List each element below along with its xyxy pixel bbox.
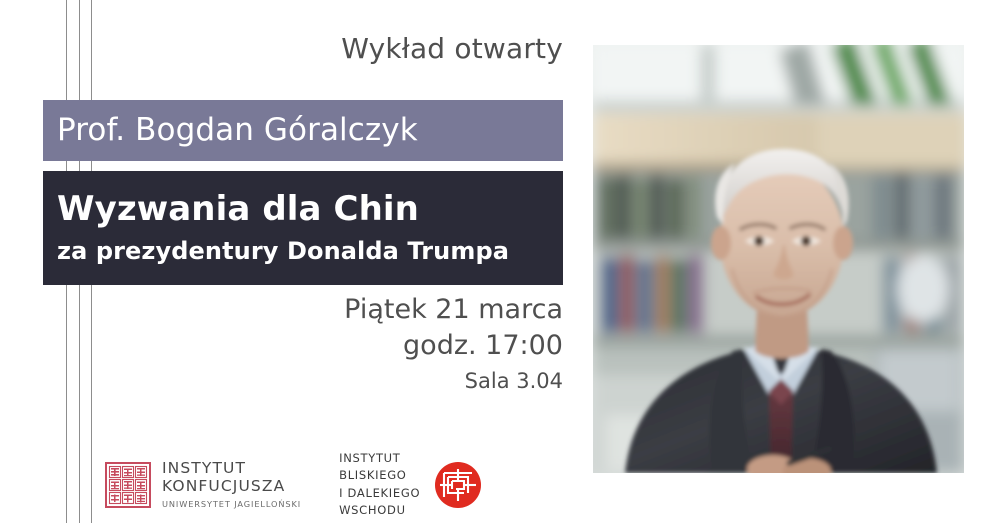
event-time: godz. 17:00 [43, 328, 563, 364]
chinese-seal-icon [105, 462, 151, 508]
confucius-institute-text: INSTYTUT KONFUCJUSZA UNIWERSYTET JAGIELL… [162, 460, 301, 509]
ibidw-line-3: I DALEKIEGO [339, 485, 420, 502]
ibidw-text: INSTYTUT BLISKIEGO I DALEKIEGO WSCHODU [339, 450, 420, 519]
ibidw-line-1: INSTYTUT [339, 450, 420, 467]
ibidw-line-2: BLISKIEGO [339, 467, 420, 484]
ci-line-3: UNIWERSYTET JAGIELLOŃSKI [162, 499, 301, 509]
speaker-portrait [593, 45, 964, 473]
event-date: Piątek 21 marca [43, 292, 563, 328]
speaker-bar: Prof. Bogdan Góralczyk [43, 100, 563, 161]
event-details: Piątek 21 marca godz. 17:00 Sala 3.04 [43, 292, 563, 397]
institute-far-east-logo: INSTYTUT BLISKIEGO I DALEKIEGO WSCHODU [339, 450, 482, 519]
event-room: Sala 3.04 [43, 366, 563, 396]
red-circular-maze-icon [434, 461, 482, 509]
logo-strip: INSTYTUT KONFUCJUSZA UNIWERSYTET JAGIELL… [105, 450, 482, 519]
ci-line-1: INSTYTUT [162, 460, 301, 478]
event-poster: Wykład otwarty Prof. Bogdan Góralczyk Wy… [0, 0, 1000, 523]
speaker-name: Prof. Bogdan Góralczyk [43, 115, 418, 146]
lecture-title: Wyzwania dla Chin [57, 190, 563, 228]
confucius-institute-logo: INSTYTUT KONFUCJUSZA UNIWERSYTET JAGIELL… [105, 460, 301, 509]
ci-line-2: KONFUCJUSZA [162, 478, 301, 496]
lecture-subtitle: za prezydentury Donalda Trumpa [57, 237, 563, 266]
ibidw-line-4: WSCHODU [339, 502, 420, 519]
event-kicker: Wykład otwarty [43, 34, 563, 65]
title-bar: Wyzwania dla Chin za prezydentury Donald… [43, 171, 563, 285]
